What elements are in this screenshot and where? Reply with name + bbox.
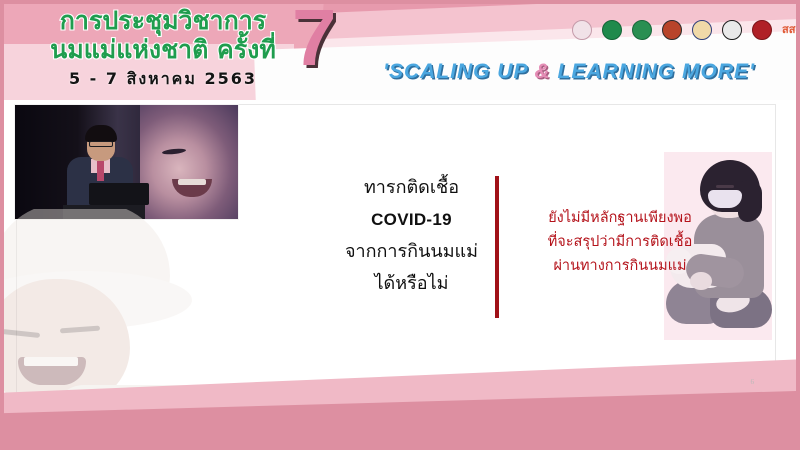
answer-line-2: ที่จะสรุปว่ามีการติดเชื้อ bbox=[502, 230, 738, 254]
question-line-1: ทารกติดเชื้อ bbox=[334, 172, 489, 204]
slide-page-number: 6 bbox=[751, 378, 755, 386]
question-line-2: COVID-19 bbox=[334, 204, 489, 236]
slide-screenshot: การประชุมวิชาการ นมแม่แห่งชาติ ครั้งที่ … bbox=[0, 0, 800, 450]
slide-footer-band bbox=[4, 352, 796, 444]
tagline-text-after-amp: LEARNING MORE' bbox=[551, 60, 755, 83]
presentation-slide: การประชุมวิชาการ นมแม่แห่งชาติ ครั้งที่ … bbox=[4, 4, 796, 444]
edition-number: 7 bbox=[292, 4, 337, 78]
thaihealth-sss-logo: สสส bbox=[780, 20, 796, 40]
sponsor-logo-row: สสส bbox=[570, 20, 796, 40]
logo-disc-icon bbox=[632, 20, 652, 40]
royal-thai-emblem-logo bbox=[660, 20, 684, 40]
speaker-tie bbox=[97, 161, 104, 181]
illustration-mother-eye bbox=[716, 185, 734, 188]
speaker-hair bbox=[85, 125, 117, 142]
thai-breastfeeding-foundation-logo bbox=[570, 20, 594, 40]
logo-text-icon: สสส bbox=[782, 20, 796, 40]
slide-header-banner: การประชุมวิชาการ นมแม่แห่งชาติ ครั้งที่ … bbox=[4, 4, 796, 100]
illustration-mother-hair-back bbox=[738, 180, 762, 222]
conference-title: การประชุมวิชาการ นมแม่แห่งชาติ ครั้งที่ … bbox=[18, 6, 308, 92]
logo-disc-icon bbox=[692, 20, 712, 40]
slide-answer-text: ยังไม่มีหลักฐานเพียงพอ ที่จะสรุปว่ามีการ… bbox=[502, 206, 738, 278]
tagline-text-before-amp: 'SCALING UP bbox=[383, 60, 535, 83]
logo-disc-icon bbox=[752, 20, 772, 40]
conference-title-line-1: การประชุมวิชาการ bbox=[18, 6, 308, 35]
answer-line-1: ยังไม่มีหลักฐานเพียงพอ bbox=[502, 206, 738, 230]
conference-title-line-2: นมแม่แห่งชาติ ครั้งที่ bbox=[18, 35, 308, 64]
speaker-video-feed[interactable] bbox=[14, 104, 239, 220]
question-line-4: ได้หรือไม่ bbox=[334, 268, 489, 300]
projected-baby-teeth bbox=[178, 179, 206, 185]
logo-disc-icon bbox=[572, 20, 592, 40]
speaker-glasses-icon bbox=[89, 141, 113, 147]
slide-question-text: ทารกติดเชื้อ COVID-19 จากการกินนมแม่ ได้… bbox=[334, 172, 489, 300]
department-of-health-logo bbox=[630, 20, 654, 40]
answer-line-3: ผ่านทางการกินนมแม่ bbox=[502, 254, 738, 278]
conference-tagline: 'SCALING UP & LEARNING MORE' bbox=[359, 60, 779, 84]
logo-disc-icon bbox=[662, 20, 682, 40]
question-line-3: จากการกินนมแม่ bbox=[334, 236, 489, 268]
conference-date: 5 - 7 สิงหาคม 2563 bbox=[18, 67, 308, 92]
vertical-divider bbox=[495, 176, 499, 318]
university-seal-logo bbox=[720, 20, 744, 40]
medical-council-logo bbox=[750, 20, 774, 40]
royal-crest-logo bbox=[690, 20, 714, 40]
ministry-of-public-health-logo bbox=[600, 20, 624, 40]
video-projected-baby-image bbox=[140, 105, 238, 220]
podium-laptop bbox=[89, 183, 149, 205]
tagline-ampersand: & bbox=[535, 60, 551, 83]
logo-disc-icon bbox=[722, 20, 742, 40]
logo-disc-icon bbox=[602, 20, 622, 40]
